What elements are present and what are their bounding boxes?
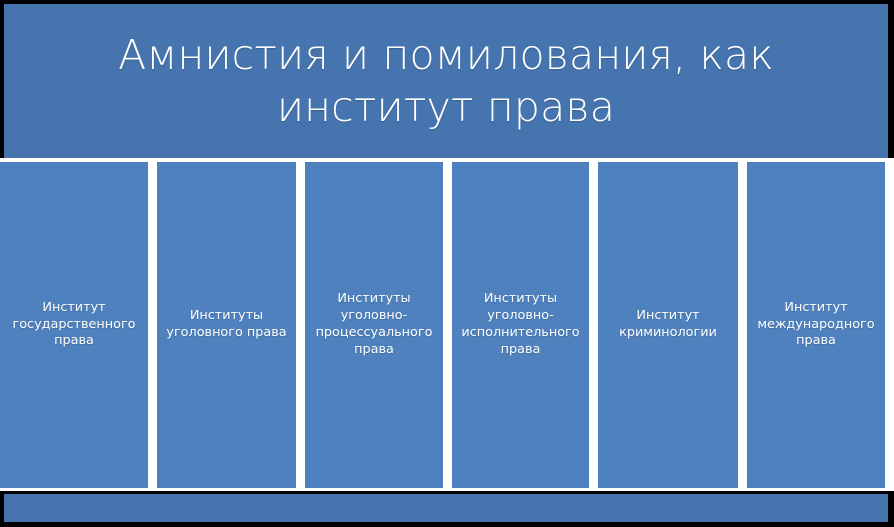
institute-box-criminal-procedure-law[interactable]: Институты уголовно- процессуального прав…	[305, 162, 443, 488]
institute-box-criminology[interactable]: Институт криминологии	[598, 162, 738, 488]
institute-box-label: Институты уголовного права	[166, 308, 286, 342]
institute-box-label: Институт международного права	[757, 300, 874, 351]
institute-box-state-law[interactable]: Институт государственного права	[0, 162, 148, 488]
page-title: Амнистия и помилования, как институт пра…	[118, 29, 774, 134]
slide-bottom-bar	[0, 491, 894, 527]
institute-box-label: Институт криминологии	[619, 308, 717, 342]
institute-box-criminal-law[interactable]: Институты уголовного права	[157, 162, 296, 488]
institute-box-label: Институты уголовно- исполнительного прав…	[461, 291, 579, 359]
institute-box-label: Институт государственного права	[13, 300, 136, 351]
slide-title-bar: Амнистия и помилования, как институт пра…	[0, 0, 894, 158]
institutes-row: Институт государственного права Институт…	[0, 162, 890, 488]
institute-box-penal-enforcement-law[interactable]: Институты уголовно- исполнительного прав…	[452, 162, 589, 488]
institute-box-international-law[interactable]: Институт международного права	[747, 162, 885, 488]
institute-box-label: Институты уголовно- процессуального прав…	[316, 291, 433, 359]
slide-canvas: Амнистия и помилования, как институт пра…	[0, 0, 894, 527]
